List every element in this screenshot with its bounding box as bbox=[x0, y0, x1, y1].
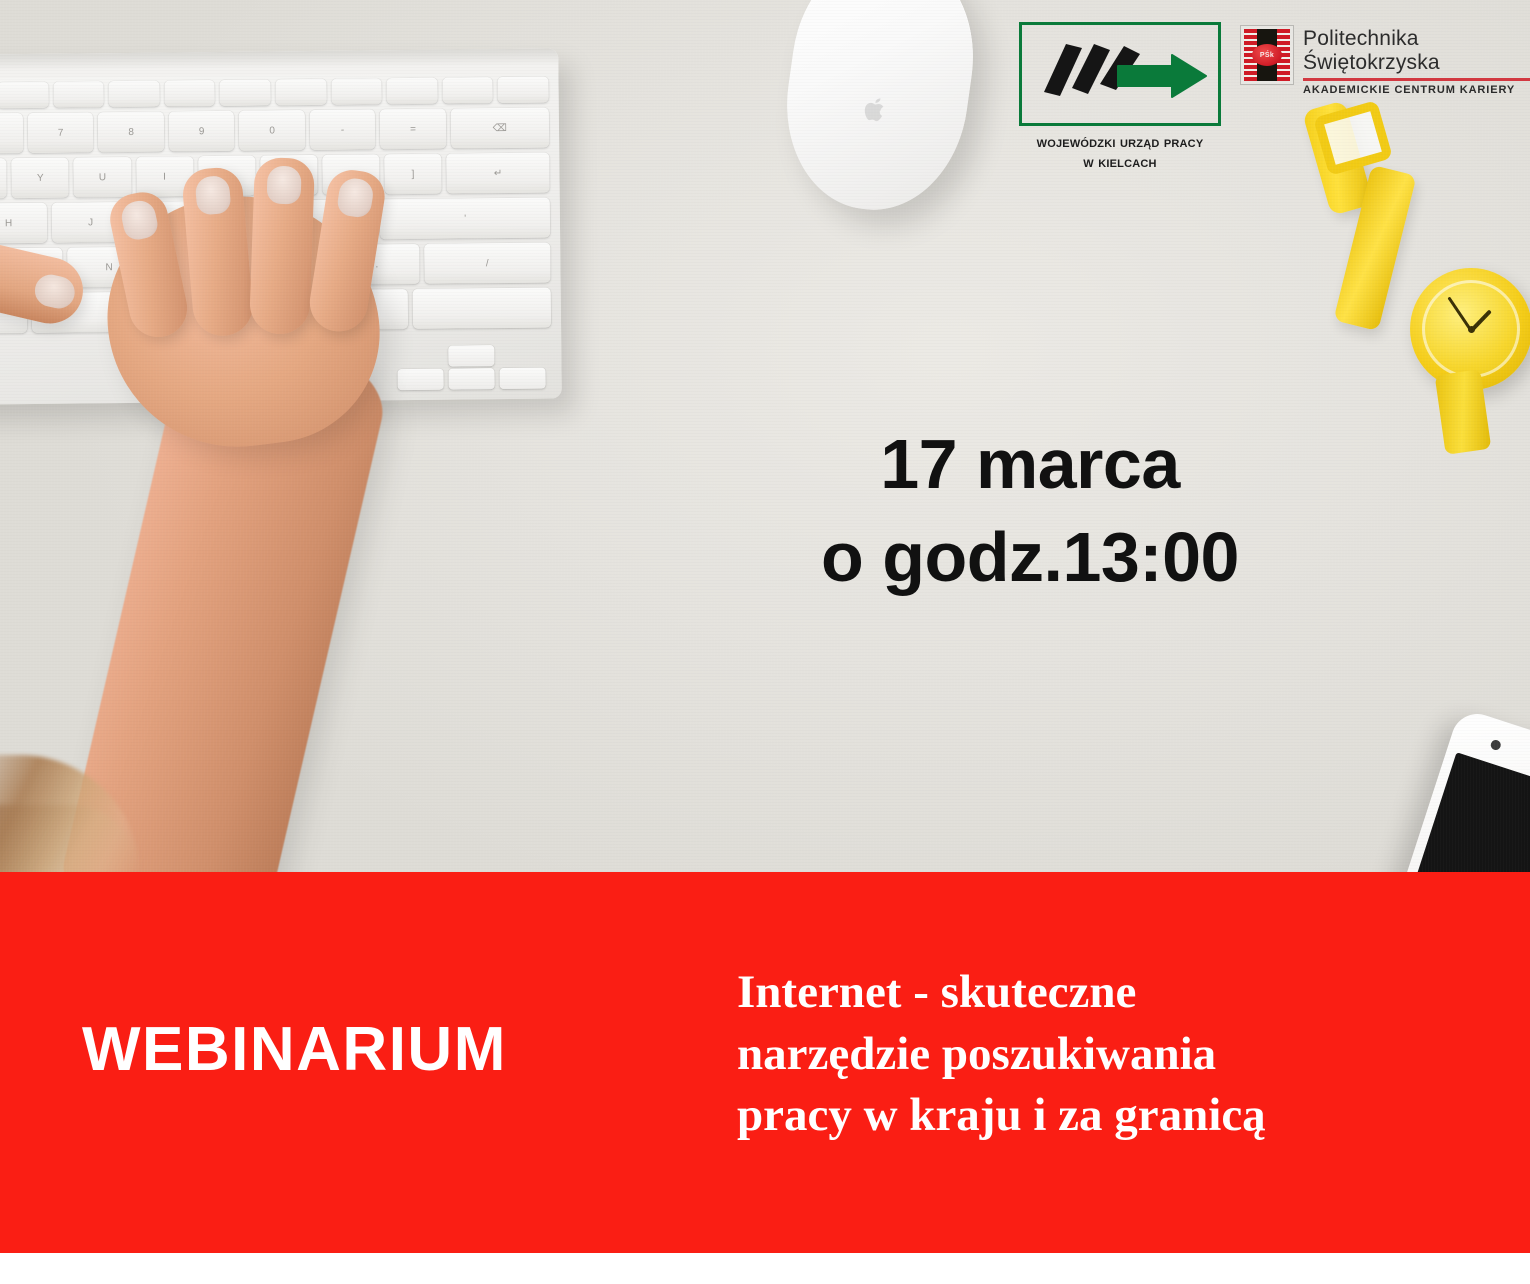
banner-description: Internet - skuteczne narzędzie poszukiwa… bbox=[737, 962, 1266, 1147]
key bbox=[331, 78, 382, 105]
event-date-block: 17 marca o godz.13:00 bbox=[760, 418, 1300, 604]
psk-divider bbox=[1303, 78, 1530, 81]
fingernail bbox=[336, 176, 376, 219]
key-slash: / bbox=[424, 243, 551, 284]
key-h: H bbox=[0, 203, 47, 244]
watch-center-pin bbox=[1468, 326, 1475, 333]
apple-logo-icon bbox=[862, 95, 890, 126]
key-arrow-down bbox=[448, 368, 494, 389]
psk-subtitle: AKADEMICKIE CENTRUM KARIERY bbox=[1303, 84, 1530, 96]
banner-title: WEBINARIUM bbox=[82, 1014, 507, 1085]
wup-caption-line2: w Kielcach bbox=[1012, 153, 1228, 173]
psk-mark-text: PŚk bbox=[1260, 52, 1274, 59]
key bbox=[220, 79, 271, 106]
politechnika-swietokrzyska-logo: PŚk Politechnika Świętokrzyska AKADEMICK… bbox=[1240, 25, 1530, 96]
key bbox=[53, 81, 104, 108]
wup-logo-frame bbox=[1019, 22, 1221, 126]
bottom-white-strip bbox=[0, 1253, 1530, 1284]
key-6: 6 bbox=[0, 113, 23, 154]
key-arrow-left bbox=[397, 369, 443, 390]
psk-logo-mark: PŚk bbox=[1240, 25, 1294, 85]
wup-logo-caption: Wojewódzki Urząd Pracy w Kielcach bbox=[1012, 133, 1228, 172]
keyboard-number-row: 5 6 7 8 9 0 - = ⌫ bbox=[0, 108, 549, 155]
fingernail bbox=[194, 175, 231, 216]
key-arrow-up bbox=[448, 345, 494, 366]
key-9: 9 bbox=[169, 111, 235, 152]
thumbnail bbox=[32, 271, 78, 311]
key-t: T bbox=[0, 158, 7, 199]
psk-title: Politechnika Świętokrzyska bbox=[1303, 27, 1530, 75]
key bbox=[387, 78, 438, 105]
key-0: 0 bbox=[239, 110, 305, 151]
watch-dial bbox=[1422, 280, 1520, 378]
key-y: Y bbox=[12, 158, 70, 199]
green-arrow-icon bbox=[1116, 53, 1208, 99]
psk-logo-text: Politechnika Świętokrzyska AKADEMICKIE C… bbox=[1303, 25, 1530, 96]
wup-caption-line1: Wojewódzki Urząd Pracy bbox=[1012, 133, 1228, 153]
keyboard-function-row bbox=[0, 77, 549, 110]
mouse-image bbox=[773, 0, 987, 221]
fingernail bbox=[119, 198, 160, 242]
key bbox=[276, 79, 327, 106]
key-arrow-right bbox=[499, 368, 545, 389]
banner-description-line2: narzędzie poszukiwania bbox=[737, 1024, 1266, 1086]
key bbox=[0, 82, 48, 109]
psk-ellipse: PŚk bbox=[1252, 44, 1282, 66]
key bbox=[498, 77, 549, 104]
key-u: U bbox=[74, 157, 132, 198]
phone-screen bbox=[1377, 752, 1530, 875]
key-8: 8 bbox=[98, 112, 164, 153]
banner-description-line3: pracy w kraju i za granicą bbox=[737, 1085, 1266, 1147]
event-date-line1: 17 marca bbox=[760, 418, 1300, 511]
key-enter: ↵ bbox=[446, 153, 549, 194]
key-modifier bbox=[413, 288, 551, 329]
key-quote: ' bbox=[380, 198, 550, 240]
psk-core: PŚk bbox=[1257, 29, 1277, 81]
phone-camera bbox=[1489, 739, 1502, 752]
smartphone-image bbox=[1365, 707, 1530, 875]
event-date-line2: o godz.13:00 bbox=[760, 511, 1300, 604]
key-7: 7 bbox=[28, 112, 94, 153]
finger-ring bbox=[249, 157, 315, 335]
banner-description-line1: Internet - skuteczne bbox=[737, 962, 1266, 1024]
red-banner: WEBINARIUM Internet - skuteczne narzędzi… bbox=[0, 872, 1530, 1253]
key bbox=[442, 77, 493, 104]
keyboard-arrow-cluster bbox=[397, 343, 547, 391]
key-backspace: ⌫ bbox=[451, 108, 550, 149]
key bbox=[164, 80, 215, 107]
key-equals: = bbox=[380, 109, 446, 150]
webinar-poster: 5 6 7 8 9 0 - = ⌫ R T Y U I O P bbox=[0, 0, 1530, 1284]
wup-kielce-logo: Wojewódzki Urząd Pracy w Kielcach bbox=[1012, 22, 1228, 172]
fingernail bbox=[266, 165, 301, 204]
key bbox=[109, 81, 160, 108]
key-minus: - bbox=[310, 109, 376, 150]
key-bracket-right: ] bbox=[384, 154, 442, 195]
keyboard-top-edge bbox=[0, 48, 558, 79]
